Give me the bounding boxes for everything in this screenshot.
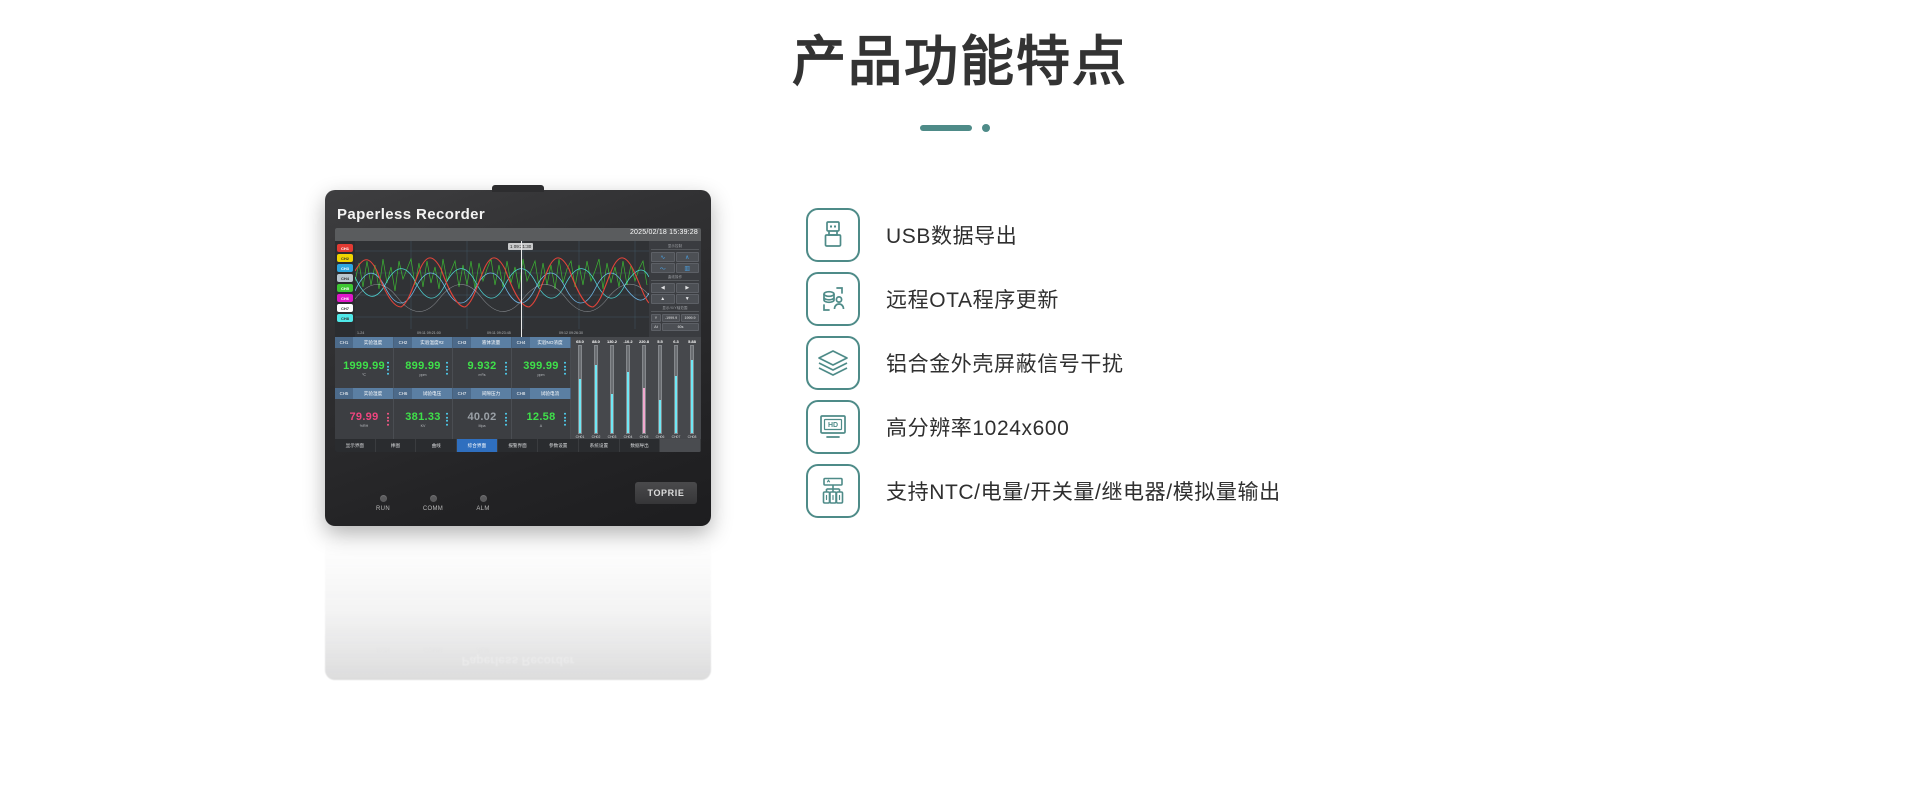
channel-value: 899.99 — [405, 360, 440, 372]
underline-dot — [982, 124, 990, 132]
hd-monitor-icon: HD — [806, 400, 860, 454]
panel-section-title: 曲线操作 — [651, 274, 699, 281]
bar-track — [642, 345, 646, 434]
reflection-led-label: RUN — [369, 646, 397, 652]
channel-id: CH4 — [512, 337, 530, 348]
interval-label: Δt — [651, 323, 661, 331]
channel-name: 实验温度#2 — [412, 337, 453, 348]
time-tick: 09:11 09:23:45 — [487, 331, 511, 335]
reflection-led-label: COMM — [419, 646, 447, 652]
feature-item: 远程OTA程序更新 — [806, 267, 1281, 331]
time-tick: 1-24 — [357, 331, 364, 335]
channel-name: 间隙压力 — [471, 388, 512, 399]
chart-plot-area[interactable]: 1 09:21:30 1-24 09:11 09:21:00 09:11 09:… — [355, 241, 649, 337]
chart-svg — [355, 241, 649, 337]
bar-track — [690, 345, 694, 434]
feature-label: USB数据导出 — [886, 220, 1017, 250]
interval-row: Δt 60s — [651, 323, 699, 331]
channel-value: 12.58 — [526, 411, 555, 423]
bar-track — [578, 345, 582, 434]
channel-unit: A — [540, 424, 542, 428]
bar-track — [594, 345, 598, 434]
alarm-dots — [446, 413, 448, 426]
usb-icon — [806, 208, 860, 262]
reflection-leds: RUN COMM ALM — [369, 646, 497, 652]
led-label: COMM — [419, 506, 447, 512]
channel-name: 实验湿度 — [353, 388, 394, 399]
y-axis-max-field[interactable]: 1999.9 — [681, 314, 699, 322]
alarm-dots — [505, 362, 507, 375]
layers-icon — [806, 336, 860, 390]
feature-item: USB数据导出 — [806, 203, 1281, 267]
channel-value-cell[interactable]: 12.58 A — [512, 399, 571, 439]
led-dot-icon — [430, 495, 437, 502]
device-reflection: Paperless Recorder RUN COMM ALM — [325, 530, 711, 680]
channel-name: 试验电流 — [530, 388, 571, 399]
device-lcd-screen[interactable]: 2025/02/18 15:39:28 CH1 CH2 CH3 CH4 CH5 … — [335, 228, 701, 452]
bar-view-button[interactable]: ▥ — [676, 263, 700, 273]
display-mode-buttons: ∿ ∧ 〜 ▥ — [651, 252, 699, 273]
channel-name: 实验温度 — [353, 337, 394, 348]
feature-item: 铝合金外壳屏蔽信号干扰 — [806, 331, 1281, 395]
alarm-dots — [446, 362, 448, 375]
legend-chip[interactable]: CH5 — [337, 284, 353, 292]
feature-item: 支持NTC/电量/开关量/继电器/模拟量输出 — [806, 459, 1281, 523]
channel-id: CH2 — [394, 337, 412, 348]
channel-id: CH3 — [453, 337, 471, 348]
channel-value: 381.33 — [405, 411, 440, 423]
chart-cursor-line[interactable] — [521, 241, 522, 337]
time-tick: 09:11 09:21:00 — [417, 331, 441, 335]
page-title: 产品功能特点 — [0, 30, 1920, 95]
alarm-dots — [564, 413, 566, 426]
channel-value-cell[interactable]: 40.02 Mpa — [453, 399, 512, 439]
panel-section-title: 显示/X/Y轴范围 — [651, 305, 699, 312]
channel-value-cell[interactable]: 381.33 KV — [394, 399, 453, 439]
database-user-icon — [806, 272, 860, 326]
trend-chart-region: CH1 CH2 CH3 CH4 CH5 CH6 CH7 CH8 — [335, 241, 701, 337]
channel-legend: CH1 CH2 CH3 CH4 CH5 CH6 CH7 CH8 — [335, 241, 355, 337]
feature-label: 支持NTC/电量/开关量/继电器/模拟量输出 — [886, 476, 1281, 506]
chart-nav-buttons: ◀ ▶ ▲ ▼ — [651, 283, 699, 304]
nav-up-button[interactable]: ▲ — [651, 294, 675, 304]
alarm-dots — [387, 362, 389, 375]
legend-chip[interactable]: CH2 — [337, 254, 353, 262]
tab-parameters[interactable]: 参数设置 — [538, 439, 579, 452]
channel-value-cell[interactable]: 899.99 ppm — [394, 348, 453, 388]
modules-icon — [806, 464, 860, 518]
channel-id: CH7 — [453, 388, 471, 399]
feature-label: 高分辨率1024x600 — [886, 412, 1069, 442]
features-list: USB数据导出 远程OTA程序更新 — [806, 203, 1281, 523]
device-status-leds: RUN COMM ALM — [369, 495, 497, 512]
channel-value-cell[interactable]: 9.932 m³/s — [453, 348, 512, 388]
waveform-view-button[interactable]: ∿ — [651, 252, 675, 262]
legend-chip[interactable]: CH7 — [337, 304, 353, 312]
reflection-brand-text: Paperless Recorder — [325, 654, 711, 668]
channel-value: 1999.99 — [343, 360, 385, 372]
channel-value: 399.99 — [523, 360, 558, 372]
channel-id: CH8 — [512, 388, 530, 399]
lcd-status-bar: 2025/02/18 15:39:28 — [335, 228, 701, 241]
y-axis-range-row: Y -1999.9 1999.9 — [651, 314, 699, 322]
nav-down-button[interactable]: ▼ — [676, 294, 700, 304]
channel-value-cell[interactable]: 399.99 ppm — [512, 348, 571, 388]
page-header: 产品功能特点 — [0, 30, 1920, 133]
channel-unit: ppm — [538, 373, 545, 377]
channel-header-row: CH1 实验温度 CH2 实验温度#2 CH3 液体流量 CH4 实验NO浓度 — [335, 337, 571, 348]
channel-value: 9.932 — [467, 360, 496, 372]
channel-id: CH1 — [335, 337, 353, 348]
lcd-body: CH1 CH2 CH3 CH4 CH5 CH6 CH7 CH8 — [335, 241, 701, 452]
reflection-led-label: ALM — [469, 646, 497, 652]
led-label: ALM — [469, 506, 497, 512]
bar-track — [674, 345, 678, 434]
channel-unit: Mpa — [479, 424, 486, 428]
channel-unit: ℃ — [362, 373, 366, 377]
bar-column[interactable]: CH07 — [668, 345, 684, 439]
legend-chip[interactable]: CH1 — [337, 244, 353, 252]
time-tick: 09:12 09:26:30 — [559, 331, 583, 335]
peak-view-button[interactable]: ∧ — [676, 252, 700, 262]
chart-control-panel: 显示控制 ∿ ∧ 〜 ▥ 曲线操作 ◀ ▶ ▲ — [649, 241, 701, 337]
chart-time-axis: 1-24 09:11 09:21:00 09:11 09:23:45 09:12… — [355, 328, 649, 337]
bar-track — [610, 345, 614, 434]
trend-view-button[interactable]: 〜 — [651, 263, 675, 273]
channel-value-row: 79.99 %RH 381.33 KV — [335, 399, 571, 439]
channel-value: 40.02 — [467, 411, 496, 423]
title-underline — [920, 123, 1000, 133]
channel-name: 试验电压 — [412, 388, 453, 399]
nav-left-button[interactable]: ◀ — [651, 283, 675, 293]
tab-curve[interactable]: 曲线 — [416, 439, 457, 452]
channel-unit: m³/s — [479, 373, 486, 377]
alarm-dots — [387, 413, 389, 426]
y-axis-min-field[interactable]: -1999.9 — [662, 314, 680, 322]
channel-value-row: 1999.99 ℃ 899.99 ppm — [335, 348, 571, 388]
tab-page-indicator[interactable]: page0/0 — [660, 439, 701, 452]
channel-id: CH5 — [335, 388, 353, 399]
product-features-page: 产品功能特点 Paperless Recorder 2025/02/18 15:… — [0, 0, 1920, 795]
led-label: RUN — [369, 506, 397, 512]
led-run: RUN — [369, 495, 397, 512]
feature-label: 铝合金外壳屏蔽信号干扰 — [886, 348, 1124, 378]
bar-column[interactable]: CH05 — [636, 345, 652, 439]
channel-values-table: CH1 实验温度 CH2 实验温度#2 CH3 液体流量 CH4 实验NO浓度 — [335, 337, 571, 439]
lcd-datetime: 2025/02/18 15:39:28 — [630, 229, 698, 236]
bar-track — [658, 345, 662, 434]
channel-name: 实验NO浓度 — [530, 337, 571, 348]
tab-display[interactable]: 显示界面 — [335, 439, 376, 452]
led-dot-icon — [380, 495, 387, 502]
bar-track — [626, 345, 630, 434]
legend-chip[interactable]: CH3 — [337, 264, 353, 272]
bar-column[interactable]: CH06 — [652, 345, 668, 439]
tab-system[interactable]: 系统设置 — [579, 439, 620, 452]
legend-chip[interactable]: CH4 — [337, 274, 353, 282]
legend-chip[interactable]: CH8 — [337, 314, 353, 322]
feature-label: 远程OTA程序更新 — [886, 284, 1059, 314]
svg-text:HD: HD — [828, 422, 838, 429]
device-notch — [492, 185, 544, 192]
tab-bargraph[interactable]: 棒图 — [376, 439, 417, 452]
tab-alarm[interactable]: 报警界面 — [498, 439, 539, 452]
tab-composite[interactable]: 综合界面 — [457, 439, 498, 452]
led-alm: ALM — [469, 495, 497, 512]
bar-column[interactable]: CH01 — [572, 345, 588, 439]
channel-name: 液体流量 — [471, 337, 512, 348]
interval-value-field[interactable]: 60s — [662, 323, 699, 331]
device-photo: Paperless Recorder 2025/02/18 15:39:28 C… — [325, 190, 711, 530]
led-comm: COMM — [419, 495, 447, 512]
alarm-dots — [564, 362, 566, 375]
device-shell: Paperless Recorder 2025/02/18 15:39:28 C… — [325, 190, 711, 526]
y-axis-label: Y — [651, 314, 661, 322]
channel-id: CH6 — [394, 388, 412, 399]
lcd-tab-bar: 显示界面 棒图 曲线 综合界面 报警界面 参数设置 系统设置 数据导出 page… — [335, 439, 701, 452]
channel-value-cell[interactable]: 1999.99 ℃ — [335, 348, 394, 388]
underline-bar — [920, 125, 972, 131]
channel-unit: %RH — [360, 424, 368, 428]
channel-unit: ppm — [420, 373, 427, 377]
channel-data-region: CH1 实验温度 CH2 实验温度#2 CH3 液体流量 CH4 实验NO浓度 — [335, 337, 701, 439]
channel-value-cell[interactable]: 79.99 %RH — [335, 399, 394, 439]
bar-column[interactable]: CH08 — [684, 345, 700, 439]
tab-export[interactable]: 数据导出 — [620, 439, 661, 452]
bar-column[interactable]: CH02 — [588, 345, 604, 439]
bar-column[interactable]: CH04 — [620, 345, 636, 439]
channel-unit: KV — [421, 424, 426, 428]
led-dot-icon — [480, 495, 487, 502]
panel-section-title: 显示控制 — [651, 243, 699, 250]
device-brand-title: Paperless Recorder — [337, 206, 485, 223]
nav-right-button[interactable]: ▶ — [676, 283, 700, 293]
feature-item: HD 高分辨率1024x600 — [806, 395, 1281, 459]
bar-column[interactable]: CH03 — [604, 345, 620, 439]
bar-columns: CH01 CH02 CH03 — [572, 344, 700, 439]
device-brand-logo: TOPRIE — [635, 482, 697, 504]
channel-header-row: CH5 实验湿度 CH6 试验电压 CH7 间隙压力 CH8 试验电流 — [335, 388, 571, 399]
legend-chip[interactable]: CH6 — [337, 294, 353, 302]
channel-value: 79.99 — [349, 411, 378, 423]
bar-graph-panel: 65.0 88.0 130.2 -10.2 220.8 5.5 6.3 5.88 — [571, 337, 701, 439]
alarm-dots — [505, 413, 507, 426]
